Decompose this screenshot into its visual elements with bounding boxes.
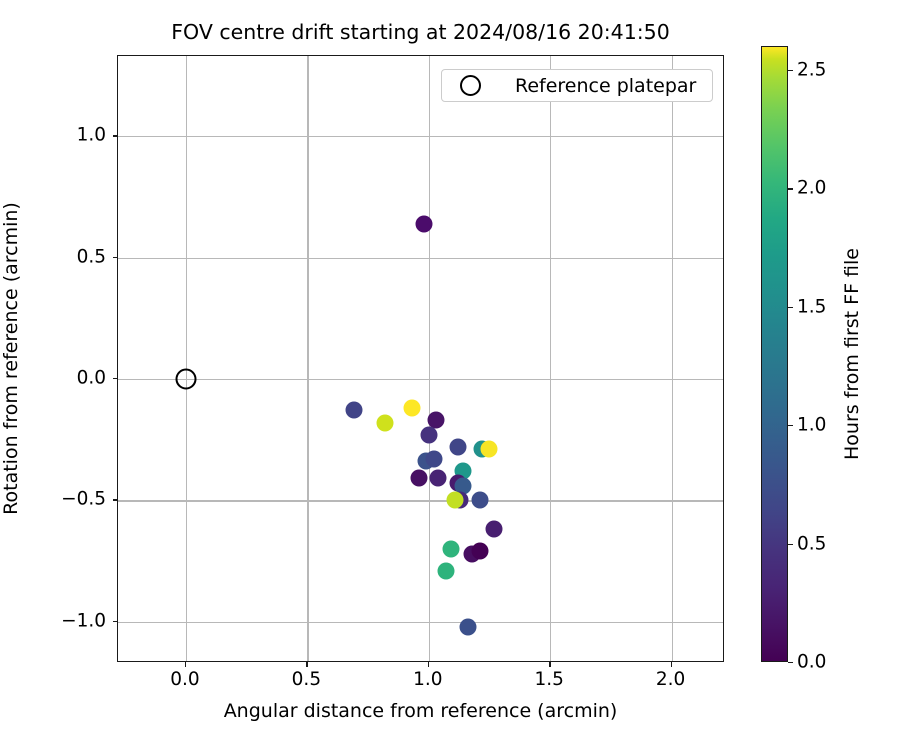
y-tick-mark [113,499,118,500]
colorbar-tick-label: 2.5 [797,59,826,80]
colorbar-tick-label: 1.5 [797,296,826,317]
x-tick-mark [671,662,672,667]
colorbar-tick-mark [788,188,793,189]
y-tick-label: −1.0 [61,610,106,631]
colorbar-tick-mark [788,307,793,308]
x-tick-mark [306,662,307,667]
y-axis-label: Rotation from reference (arcmin) [0,55,30,662]
y-tick-label: 1.0 [77,125,106,146]
colorbar-tick-label: 2.0 [797,178,826,199]
legend-box[interactable]: Reference platepar [441,69,713,102]
colorbar-label: Hours from first FF file [841,46,867,662]
colorbar-tick-mark [788,70,793,71]
colorbar-gradient [761,46,788,662]
matplotlib-figure: FOV centre drift starting at 2024/08/16 … [0,0,900,750]
x-tick-mark [185,662,186,667]
colorbar: 0.00.51.01.52.02.5 [761,46,788,662]
y-tick-mark [113,621,118,622]
y-tick-mark [113,378,118,379]
legend-item-label: Reference platepar [515,75,696,97]
colorbar-tick-mark [788,544,793,545]
x-tick-mark [549,662,550,667]
y-tick-label: 0.0 [77,367,106,388]
x-tick-label: 1.5 [534,669,563,690]
colorbar-tick-label: 0.0 [797,652,826,673]
colorbar-tick-label: 0.5 [797,533,826,554]
y-tick-mark [113,257,118,258]
plot-axes: Reference platepar [117,55,724,662]
y-tick-mark [113,135,118,136]
x-tick-label: 0.5 [292,669,321,690]
colorbar-tick-mark [788,662,793,663]
x-tick-mark [428,662,429,667]
x-tick-label: 2.0 [656,669,685,690]
x-tick-label: 0.0 [170,669,199,690]
y-tick-label: 0.5 [77,246,106,267]
page-title: FOV centre drift starting at 2024/08/16 … [117,20,724,44]
x-tick-label: 1.0 [413,669,442,690]
legend-container: Reference platepar [118,56,723,661]
colorbar-tick-label: 1.0 [797,415,826,436]
colorbar-tick-mark [788,425,793,426]
y-tick-label: −0.5 [61,489,106,510]
reference-platepar-marker-icon [460,75,481,96]
x-axis-label: Angular distance from reference (arcmin) [117,700,724,722]
